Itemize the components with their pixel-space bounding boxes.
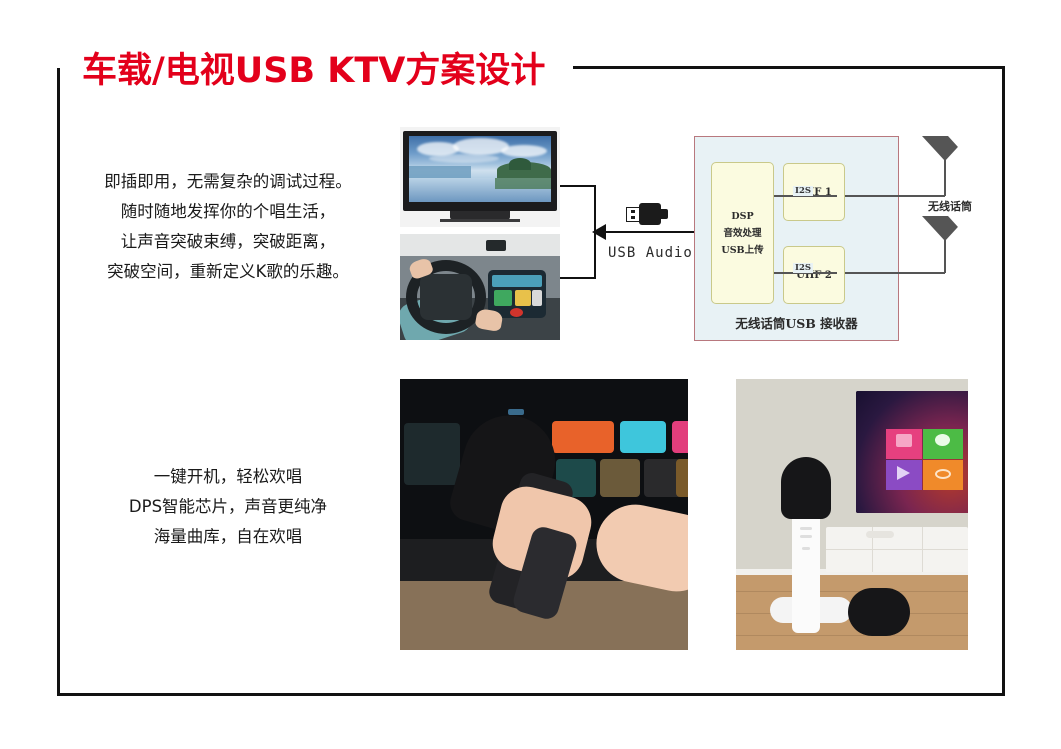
frame-top-border (573, 66, 1005, 69)
tv-tile-ktv (886, 429, 922, 459)
tv-screen (409, 136, 551, 202)
flat-screen-tv-photo (400, 127, 560, 227)
diagram-caption: 无线话筒USB 接收器 (694, 313, 899, 332)
slide-canvas: 车载/电视USB KTV方案设计 即插即用，无需复杂的调试过程。 随时随地发挥你… (0, 0, 1061, 749)
microphone-standing-body (792, 513, 820, 633)
intro-line-2: 随时随地发挥你的个唱生活， (78, 197, 378, 227)
tv-base (440, 219, 520, 222)
intro-line-1: 即插即用，无需复杂的调试过程。 (78, 167, 378, 197)
usb-connector-icon (626, 203, 668, 225)
i2s-label-2: I2S (793, 263, 813, 273)
feature-line-1: 一键开机，轻松欢唱 (78, 462, 378, 492)
usb-audio-label: USB Audio (608, 245, 693, 261)
frame-bottom-border (57, 693, 1005, 696)
usb-direction-arrow-icon (592, 224, 606, 240)
microphone-lying-foam-head (848, 588, 910, 636)
car-dashboard-photo (400, 234, 560, 340)
tv-cabinet (826, 527, 968, 572)
steering-wheel-hub (420, 274, 472, 320)
uhf2-block: UHF 2 (783, 246, 845, 304)
dsp-block: DSP 音效处理 USB上传 (711, 162, 774, 304)
usb-cable-tail (660, 209, 668, 219)
page-title: 车载/电视USB KTV方案设计 (82, 42, 545, 93)
frame-left-border (57, 68, 60, 696)
usb-shell (639, 203, 661, 225)
microphone-standing-foam-head (781, 457, 831, 519)
intro-text-block: 即插即用，无需复杂的调试过程。 随时随地发挥你的个唱生活， 让声音突破束缚，突破… (78, 167, 378, 287)
feature-text-block: 一键开机，轻松欢唱 DPS智能芯片，声音更纯净 海量曲库，自在欢唱 (78, 462, 378, 552)
diagram-to-usb-line (606, 231, 696, 233)
frame-right-border (1002, 68, 1005, 696)
antenna-icon-2 (922, 216, 968, 241)
car-to-usb-line (560, 277, 596, 279)
wireless-mic-label: 无线话筒 (928, 198, 972, 214)
tv-tile-chat (923, 429, 963, 459)
tv-tile-send (886, 460, 922, 490)
living-room-microphones-photo (736, 379, 968, 650)
car-dashcam (486, 240, 506, 251)
i2s-label-1: I2S (793, 186, 813, 196)
tv-tile-view (923, 460, 963, 490)
handheld-microphone-in-car-photo (400, 379, 688, 650)
tv-bezel (403, 131, 557, 211)
feature-line-3: 海量曲库，自在欢唱 (78, 522, 378, 552)
antenna-icon-1 (922, 136, 968, 161)
intro-line-4: 突破空间，重新定义K歌的乐趣。 (78, 257, 378, 287)
dsp-line-3: USB上传 (721, 242, 763, 259)
wall-mounted-tv (856, 391, 968, 513)
tv-remote (866, 531, 894, 538)
intro-line-3: 让声音突破束缚，突破距离， (78, 227, 378, 257)
feature-line-2: DPS智能芯片，声音更纯净 (78, 492, 378, 522)
dsp-line-2: 音效处理 (723, 225, 761, 242)
tv-to-usb-line (560, 185, 596, 187)
car-windshield (400, 234, 560, 256)
dsp-line-1: DSP (731, 208, 753, 225)
